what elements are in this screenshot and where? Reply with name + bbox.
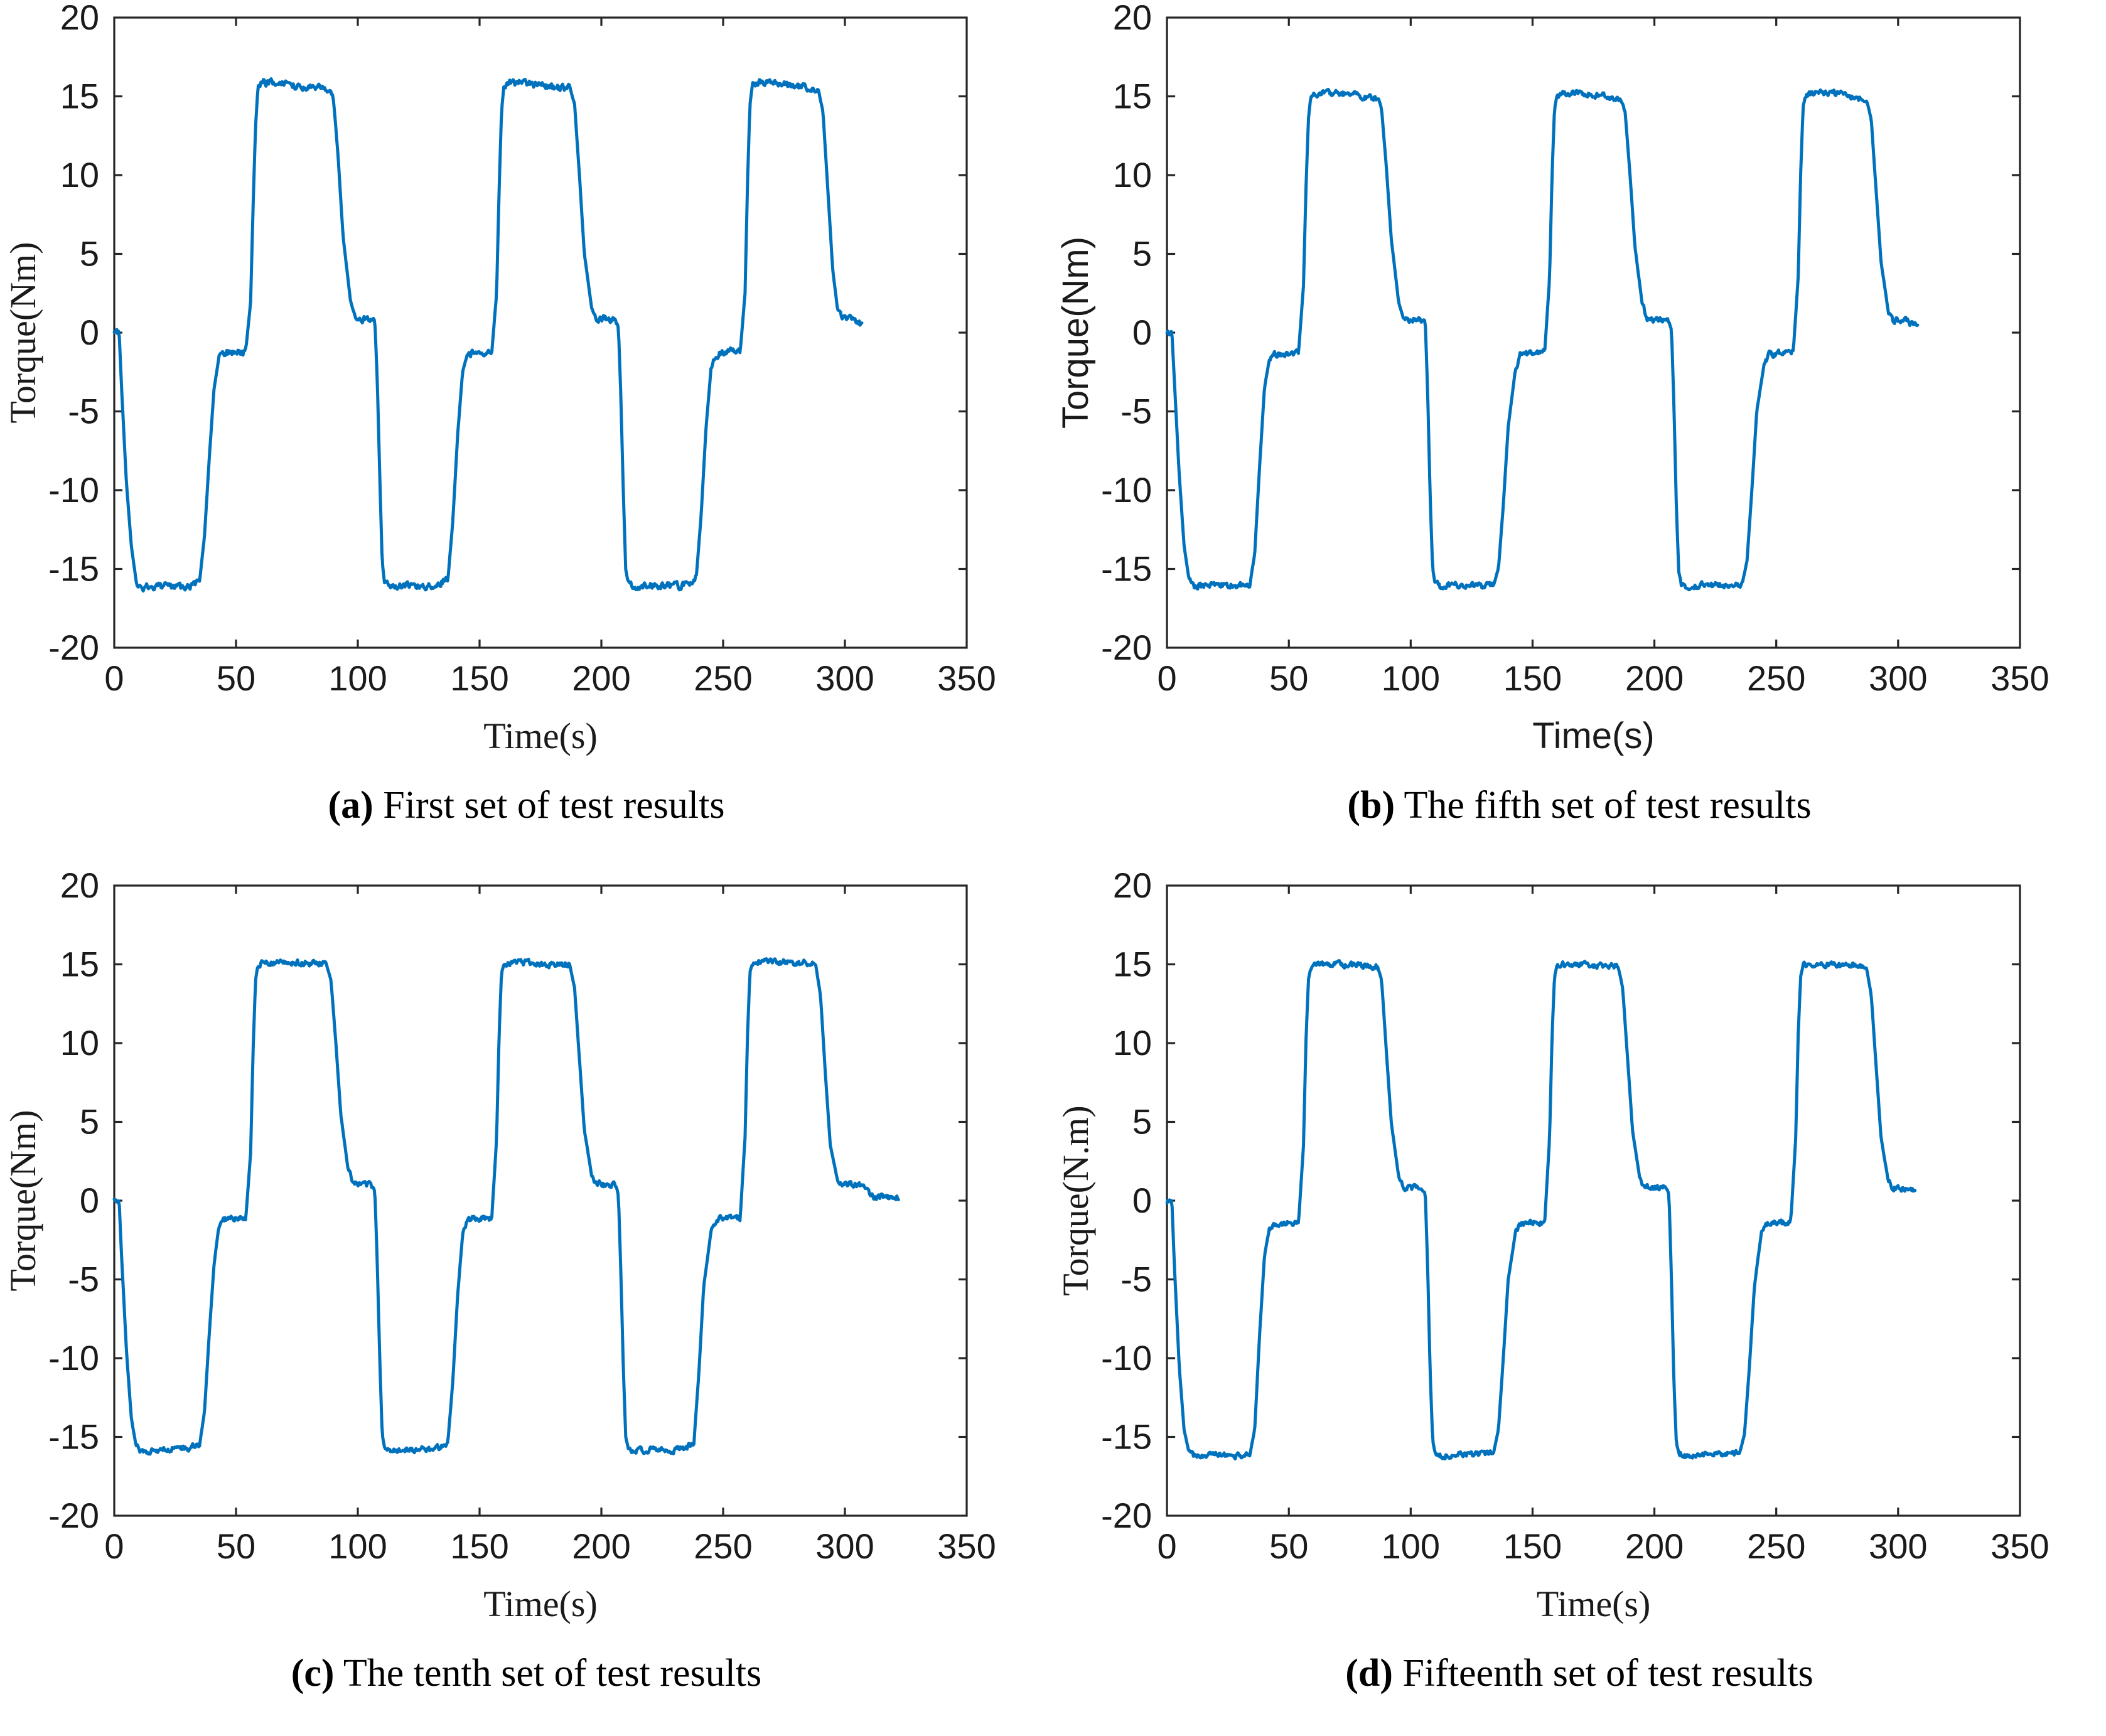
x-tick-label: 100 [1382,658,1440,698]
x-tick-label: 50 [217,658,255,698]
y-tick-label: 5 [80,234,99,274]
y-tick-label: -10 [1101,470,1152,510]
caption-a: (a) First set of test results [0,783,1053,828]
panel-b: 050100150200250300350-20-15-10-505101520… [1053,0,2106,868]
figure-grid: 050100150200250300350-20-15-10-505101520… [0,0,2106,1736]
caption-b: (b) The fifth set of test results [1053,783,2106,828]
y-tick-label: 5 [1132,234,1152,274]
plot-a: 050100150200250300350-20-15-10-505101520… [0,0,1053,778]
y-tick-label: -15 [1101,549,1152,589]
plot-frame [1167,18,2020,648]
x-tick-label: 0 [104,1526,124,1566]
y-tick-label: 0 [80,1181,99,1220]
y-tick-label: -5 [1120,392,1152,431]
plot-d: 050100150200250300350-20-15-10-505101520… [1053,868,2106,1646]
plot-c: 050100150200250300350-20-15-10-505101520… [0,868,1053,1646]
torque-series-line [114,79,862,591]
caption-b-letter: (b) [1347,784,1395,827]
x-tick-label: 0 [1158,1526,1177,1566]
caption-c-text: The tenth set of test results [343,1652,761,1695]
y-tick-label: -10 [48,1338,99,1378]
y-tick-label: -20 [1101,1496,1152,1535]
y-axis-title: Torque(N.m) [1055,1105,1096,1295]
plot-b: 050100150200250300350-20-15-10-505101520… [1053,0,2106,778]
x-axis-title: Time(s) [483,715,598,756]
y-tick-label: 10 [1113,155,1152,195]
caption-b-text: The fifth set of test results [1404,784,1812,827]
y-tick-label: 20 [60,0,99,37]
torque-series-line [114,959,898,1454]
y-tick-label: 0 [80,313,99,352]
y-tick-label: 0 [1132,313,1152,352]
y-tick-label: -10 [1101,1338,1152,1378]
caption-a-text: First set of test results [383,784,724,827]
plot-frame [1167,886,2020,1516]
y-tick-label: -20 [48,628,99,667]
caption-d-text: Fifteenth set of test results [1402,1652,1813,1695]
caption-c: (c) The tenth set of test results [0,1651,1053,1696]
x-axis-title: Time(s) [1532,715,1654,756]
caption-a-letter: (a) [328,784,373,827]
y-tick-label: 5 [1132,1102,1152,1142]
x-tick-label: 0 [104,658,124,698]
y-tick-label: 20 [1113,868,1152,905]
x-tick-label: 150 [450,1526,508,1566]
y-axis-title: Torque(Nm) [3,1110,43,1291]
y-tick-label: 10 [1113,1023,1152,1063]
y-tick-label: 20 [60,868,99,905]
x-tick-label: 250 [694,1526,752,1566]
x-tick-label: 50 [1269,1526,1308,1566]
x-tick-label: 250 [694,658,752,698]
y-tick-label: 15 [60,945,99,984]
x-tick-label: 300 [1869,658,1927,698]
y-axis-title: Torque(Nm) [3,242,43,423]
caption-c-letter: (c) [291,1652,335,1695]
chart-svg: 050100150200250300350-20-15-10-505101520… [1053,868,2106,1646]
x-tick-label: 100 [1382,1526,1440,1566]
caption-d-letter: (d) [1345,1652,1393,1695]
x-tick-label: 250 [1747,1526,1805,1566]
x-tick-label: 0 [1158,658,1177,698]
y-tick-label: -15 [48,549,99,589]
plot-frame [114,886,967,1516]
x-tick-label: 200 [572,1526,630,1566]
x-tick-label: 200 [1625,1526,1684,1566]
caption-d: (d) Fifteenth set of test results [1053,1651,2106,1696]
x-tick-label: 300 [815,1526,874,1566]
x-axis-title: Time(s) [1537,1583,1651,1624]
y-tick-label: -20 [48,1496,99,1535]
x-tick-label: 150 [450,658,508,698]
x-tick-label: 350 [937,1526,996,1566]
x-tick-label: 100 [328,1526,387,1566]
y-tick-label: -15 [48,1417,99,1457]
x-tick-label: 300 [815,658,874,698]
panel-d: 050100150200250300350-20-15-10-505101520… [1053,868,2106,1736]
torque-series-line [1167,89,1918,589]
x-tick-label: 200 [572,658,630,698]
x-tick-label: 250 [1747,658,1805,698]
panel-c: 050100150200250300350-20-15-10-505101520… [0,868,1053,1736]
y-tick-label: -5 [68,392,99,431]
x-tick-label: 350 [1990,658,2049,698]
y-tick-label: -20 [1101,628,1152,667]
y-tick-label: 10 [60,1023,99,1063]
chart-svg: 050100150200250300350-20-15-10-505101520… [0,868,1053,1646]
y-tick-label: 15 [1113,945,1152,984]
x-axis-title: Time(s) [483,1583,598,1624]
x-tick-label: 200 [1625,658,1684,698]
y-tick-label: 20 [1113,0,1152,37]
y-tick-label: 5 [80,1102,99,1142]
x-tick-label: 50 [217,1526,255,1566]
y-tick-label: 15 [1113,77,1152,116]
y-tick-label: -5 [1120,1260,1152,1299]
chart-svg: 050100150200250300350-20-15-10-505101520… [1053,0,2106,778]
x-tick-label: 350 [1990,1526,2049,1566]
x-tick-label: 100 [328,658,387,698]
y-tick-label: 10 [60,155,99,195]
x-tick-label: 150 [1503,1526,1562,1566]
plot-frame [114,18,967,648]
x-tick-label: 50 [1269,658,1308,698]
y-tick-label: 15 [60,77,99,116]
y-tick-label: -15 [1101,1417,1152,1457]
panel-a: 050100150200250300350-20-15-10-505101520… [0,0,1053,868]
x-tick-label: 350 [937,658,996,698]
torque-series-line [1167,961,1915,1459]
x-tick-label: 150 [1503,658,1562,698]
y-axis-title: Torque(Nm) [1055,237,1096,429]
y-tick-label: -10 [48,470,99,510]
y-tick-label: -5 [68,1260,99,1299]
x-tick-label: 300 [1869,1526,1927,1566]
y-tick-label: 0 [1132,1181,1152,1220]
chart-svg: 050100150200250300350-20-15-10-505101520… [0,0,1053,778]
